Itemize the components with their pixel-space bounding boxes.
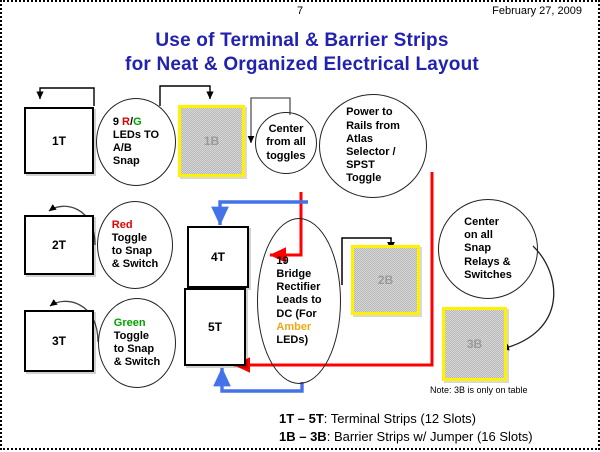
terminal-box-5t[interactable]: 5T (184, 288, 246, 366)
terminal-box-4t[interactable]: 4T (187, 226, 249, 288)
terminal-box-1t[interactable]: 1T (24, 107, 94, 174)
bridge-amber: Amber (276, 321, 311, 333)
leds-r: R (122, 116, 130, 128)
title-line-1: Use of Terminal & Barrier Strips (2, 30, 600, 52)
callout-center-toggles-ellipse: Center from all toggles (255, 112, 317, 174)
green-toggle-rest: Toggle to Snap & Switch (114, 330, 160, 368)
terminal-box-3t[interactable]: 3T (24, 310, 94, 372)
slide-canvas: 7 February 27, 2009 Use of Terminal & Ba… (0, 0, 600, 450)
terminal-box-2t[interactable]: 2T (24, 215, 94, 275)
terminal-box-5t-label: 5T (208, 320, 222, 334)
terminal-box-1t-label: 1T (52, 134, 66, 148)
callout-center-snap-text: Center on all Snap Relays & Switches (464, 216, 512, 282)
callout-green-toggle-ellipse: GreenToggle to Snap & Switch (98, 298, 176, 388)
terminal-box-2t-label: 2T (52, 238, 66, 252)
barrier-box-2b-label: 2B (378, 273, 393, 287)
barrier-box-1b[interactable]: 1B (178, 105, 245, 177)
callout-leds-ellipse: 9 R/GLEDs TO A/B Snap (96, 98, 176, 186)
legend-row-terminal: 1T – 5T: Terminal Strips (12 Slots) (279, 411, 476, 426)
legend-row-barrier: 1B – 3B: Barrier Strips w/ Jumper (16 Sl… (279, 429, 533, 444)
red-toggle-rest: Toggle to Snap & Switch (112, 232, 158, 270)
callout-bridge-ellipse: 19 Bridge Rectifier Leads to DC (ForAmbe… (257, 218, 341, 384)
legend-sep-barrier: : (327, 429, 334, 444)
callout-green-toggle-text: GreenToggle to Snap & Switch (114, 317, 160, 370)
callout-bridge-text: 19 Bridge Rectifier Leads to DC (ForAmbe… (276, 255, 321, 347)
note-3b: Note: 3B is only on table (430, 385, 528, 395)
barrier-box-3b-label: 3B (467, 337, 482, 351)
legend-sep-terminal: : (324, 411, 331, 426)
leds-count: 9 (113, 116, 119, 128)
callout-red-toggle-text: RedToggle to Snap & Switch (112, 219, 158, 272)
callout-power-rails-text: Power to Rails from Atlas Selector / SPS… (346, 106, 400, 185)
terminal-box-4t-label: 4T (211, 250, 225, 264)
legend-desc-terminal: Terminal Strips (12 Slots) (331, 411, 476, 426)
legend-range-barrier: 1B – 3B (279, 429, 327, 444)
leds-g: G (133, 116, 142, 128)
leds-rest: LEDs TO A/B Snap (113, 129, 159, 167)
page-number: 7 (297, 5, 303, 17)
barrier-box-3b[interactable]: 3B (442, 307, 507, 381)
barrier-box-1b-label: 1B (204, 134, 219, 148)
callout-power-rails-ellipse: Power to Rails from Atlas Selector / SPS… (319, 94, 427, 198)
callout-leds-text: 9 R/GLEDs TO A/B Snap (113, 116, 159, 169)
terminal-box-3t-label: 3T (52, 334, 66, 348)
legend-desc-barrier: Barrier Strips w/ Jumper (16 Slots) (334, 429, 533, 444)
callout-center-snap-ellipse: Center on all Snap Relays & Switches (438, 199, 538, 299)
connector-1t-bracket (40, 88, 94, 106)
bridge-post: LEDs) (276, 334, 308, 346)
connector-1b-bracket (160, 86, 210, 106)
green-toggle-word: Green (114, 317, 146, 329)
callout-center-toggles-text: Center from all toggles (266, 123, 306, 163)
bridge-pre: 19 Bridge Rectifier Leads to DC (For (276, 255, 321, 320)
legend-range-terminal: 1T – 5T (279, 411, 324, 426)
red-toggle-word: Red (112, 219, 133, 231)
callout-red-toggle-ellipse: RedToggle to Snap & Switch (97, 201, 173, 289)
title-line-2: for Neat & Organized Electrical Layout (2, 54, 600, 76)
barrier-box-2b[interactable]: 2B (351, 245, 420, 315)
date-label: February 27, 2009 (492, 5, 582, 17)
